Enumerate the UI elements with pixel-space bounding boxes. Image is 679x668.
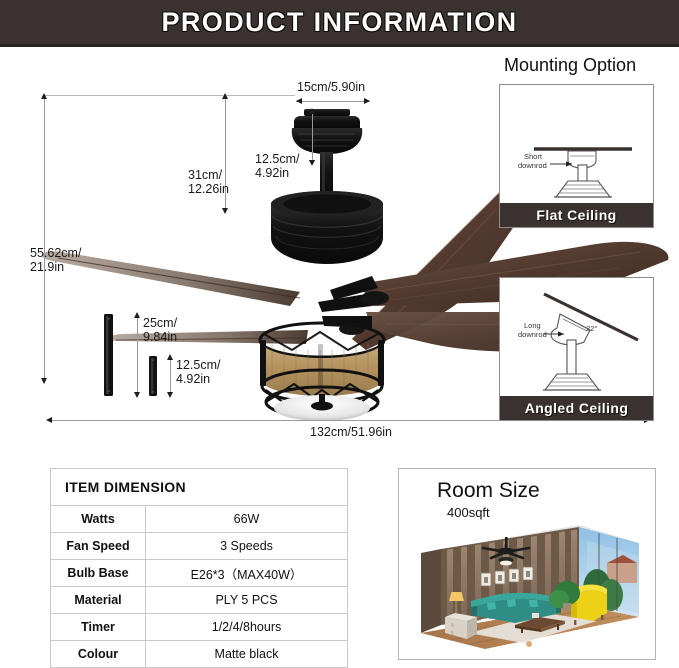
page-title: PRODUCT INFORMATION xyxy=(0,0,679,44)
downrod-short-line xyxy=(170,356,171,396)
angled-ceiling-label: Angled Ceiling xyxy=(500,396,653,420)
row-value-watts: 66W xyxy=(146,506,348,533)
table-title-row: ITEM DIMENSION xyxy=(51,469,348,506)
motor-height-tick-top xyxy=(225,95,295,96)
row-key-colour: Colour xyxy=(51,641,146,668)
row-value-material: PLY 5 PCS xyxy=(146,587,348,614)
overall-height-label: 55.62cm/ 21.9in xyxy=(30,246,81,274)
room-size-value: 400sqft xyxy=(447,505,490,520)
downrod-long-label: 25cm/ 9.84in xyxy=(143,316,177,344)
row-value-bulb-base: E26*3（MAX40W） xyxy=(146,560,348,587)
downrod-long-arrow-up xyxy=(134,312,140,318)
room-size-title: Room Size xyxy=(437,479,540,503)
table-row: Colour Matte black xyxy=(51,641,348,668)
table-row: Bulb Base E26*3（MAX40W） xyxy=(51,560,348,587)
mounting-option-title: Mounting Option xyxy=(504,55,636,76)
svg-text:Short: Short xyxy=(524,152,543,161)
svg-text:downrod: downrod xyxy=(518,161,547,170)
item-dimension-title: ITEM DIMENSION xyxy=(51,469,348,506)
overall-height-line xyxy=(44,95,45,383)
downrod-long-arrow-down xyxy=(134,392,140,398)
angled-ceiling-illustration: 22° Long downrod xyxy=(500,278,653,396)
room-size-card: Room Size 400sqft xyxy=(398,468,656,660)
blade-span-label: 132cm/51.96in xyxy=(310,425,392,439)
canopy-width-label: 15cm/5.90in xyxy=(297,80,365,94)
table-row: Watts 66W xyxy=(51,506,348,533)
item-dimension-table: ITEM DIMENSION Watts 66W Fan Speed 3 Spe… xyxy=(50,468,348,668)
row-value-timer: 1/2/4/8hours xyxy=(146,614,348,641)
motor-height-label: 31cm/ 12.26in xyxy=(188,168,229,196)
downrod-drop-label: 12.5cm/ 4.92in xyxy=(255,152,299,180)
canopy-width-arrow-right xyxy=(364,98,370,104)
downrod-drop-arrow-up xyxy=(309,108,315,114)
svg-text:Long: Long xyxy=(524,321,541,330)
downrod-short-arrow-down xyxy=(167,392,173,398)
row-key-timer: Timer xyxy=(51,614,146,641)
motor-height-arrow-up xyxy=(222,93,228,99)
flat-ceiling-label: Flat Ceiling xyxy=(500,203,653,227)
canopy-width-line xyxy=(296,101,370,102)
room-scene-illustration: 5 5 xyxy=(411,521,645,655)
row-key-material: Material xyxy=(51,587,146,614)
mounting-card-flat[interactable]: Short downrod Flat Ceiling xyxy=(499,84,654,228)
canopy-width-arrow-left xyxy=(296,98,302,104)
row-key-fan-speed: Fan Speed xyxy=(51,533,146,560)
mounting-card-angled[interactable]: 22° Long downrod Angled Ceiling xyxy=(499,277,654,421)
overall-height-arrow-down xyxy=(41,378,47,384)
table-row: Fan Speed 3 Speeds xyxy=(51,533,348,560)
row-value-colour: Matte black xyxy=(146,641,348,668)
svg-text:5: 5 xyxy=(451,623,454,629)
downrod-short-arrow-up xyxy=(167,354,173,360)
flat-ceiling-illustration: Short downrod xyxy=(500,85,653,203)
svg-text:downrod: downrod xyxy=(518,330,547,339)
downrod-long-line xyxy=(137,314,138,396)
blade-span-arrow-left xyxy=(46,417,52,423)
motor-height-arrow-down xyxy=(222,208,228,214)
row-value-fan-speed: 3 Speeds xyxy=(146,533,348,560)
row-key-watts: Watts xyxy=(51,506,146,533)
overall-height-arrow-up xyxy=(41,93,47,99)
svg-text:22°: 22° xyxy=(586,324,597,333)
downrod-drop-line xyxy=(312,110,313,164)
table-row: Timer 1/2/4/8hours xyxy=(51,614,348,641)
downrod-drop-arrow-down xyxy=(309,160,315,166)
overall-height-tick-top xyxy=(44,95,224,96)
row-key-bulb-base: Bulb Base xyxy=(51,560,146,587)
downrod-short-label: 12.5cm/ 4.92in xyxy=(176,358,220,386)
table-row: Material PLY 5 PCS xyxy=(51,587,348,614)
svg-text:5: 5 xyxy=(451,631,454,637)
